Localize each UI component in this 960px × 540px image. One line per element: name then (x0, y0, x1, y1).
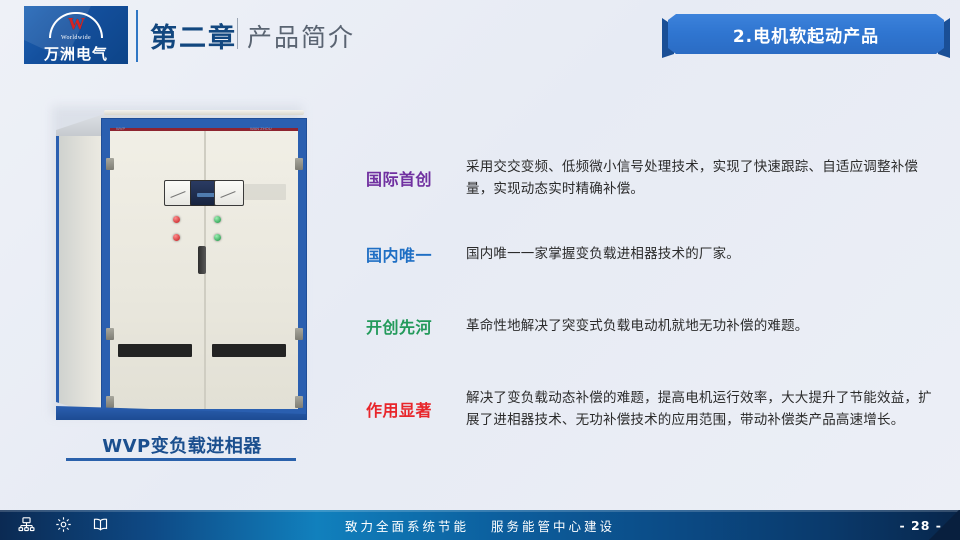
cabinet-hinge (106, 328, 114, 340)
company-logo: W Worldwide 万洲电气 (24, 6, 128, 64)
feature-row: 开创先河 革命性地解决了突变式负载电动机就地无功补偿的难题。 (366, 298, 932, 354)
feature-label: 开创先河 (366, 314, 458, 338)
slide-header: W Worldwide 万洲电气 第二章 产品简介 2.电机软起动产品 (0, 0, 960, 76)
feature-text: 采用交交变频、低频微小信号处理技术，实现了快速跟踪、自适应调整补偿量，实现动态实… (458, 156, 932, 200)
cabinet-tag-right: WAN ZHOU (250, 126, 272, 131)
cabinet-nameplate (244, 184, 286, 200)
slide: W Worldwide 万洲电气 第二章 产品简介 2.电机软起动产品 WVP (0, 0, 960, 540)
cabinet-hinge (295, 328, 303, 340)
chapter-separator (237, 18, 238, 49)
chapter-title: 第二章 (150, 16, 237, 55)
feature-text: 解决了变负载动态补偿的难题，提高电机运行效率，大大提升了节能效益，扩展了进相器技… (458, 387, 932, 431)
page-number: - 28 - (900, 510, 942, 540)
section-badge: 2.电机软起动产品 (662, 14, 950, 58)
cabinet-hinge (106, 396, 114, 408)
logo-company-name: 万洲电气 (24, 43, 128, 64)
feature-label: 国内唯一 (366, 242, 458, 266)
analog-meter-right (214, 180, 244, 206)
footer-slogan-left: 致力全面系统节能 (345, 516, 469, 535)
feature-row: 国际首创 采用交交变频、低频微小信号处理技术，实现了快速跟踪、自适应调整补偿量，… (366, 146, 932, 210)
cabinet-tag-left: WVP (116, 126, 125, 131)
indicator-lamp-red-2 (173, 234, 180, 241)
indicator-lamp-red-1 (173, 216, 180, 223)
indicator-lamp-green-2 (214, 234, 221, 241)
badge-body: 2.电机软起动产品 (668, 14, 944, 54)
feature-row: 国内唯一 国内唯一一家掌握变负载进相器技术的厂家。 (366, 226, 932, 282)
logo-subtitle: Worldwide (24, 35, 128, 41)
cabinet-vent-right (212, 344, 286, 357)
cabinet-hinge (295, 158, 303, 170)
product-caption: WVP变负载进相器 (46, 432, 318, 458)
footer-slogan-right: 服务能管中心建设 (491, 516, 615, 535)
cabinet-door-handle (198, 246, 206, 274)
feature-row: 作用显著 解决了变负载动态补偿的难题，提高电机运行效率，大大提升了节能效益，扩展… (366, 370, 932, 448)
cabinet-hinge (295, 396, 303, 408)
feature-label: 国际首创 (366, 166, 458, 190)
cabinet-side-panel (56, 118, 107, 418)
chapter-subtitle: 产品简介 (247, 18, 355, 54)
header-divider (136, 10, 138, 62)
feature-label: 作用显著 (366, 397, 458, 421)
badge-label: 2.电机软起动产品 (733, 22, 879, 47)
cabinet-top-lip (104, 110, 304, 115)
feature-text: 革命性地解决了突变式负载电动机就地无功补偿的难题。 (458, 315, 932, 337)
logo-w-letter: W (49, 14, 103, 34)
product-caption-underline (66, 458, 296, 461)
logo-w-icon: W (49, 12, 103, 36)
cabinet-vent-left (118, 344, 192, 357)
cabinet-hinge (106, 158, 114, 170)
footer-slogans: 致力全面系统节能 服务能管中心建设 (0, 510, 960, 540)
feature-text: 国内唯一一家掌握变负载进相器技术的厂家。 (458, 243, 932, 265)
product-image: WVP WAN ZHOU (46, 96, 336, 426)
feature-list: 国际首创 采用交交变频、低频微小信号处理技术，实现了快速跟踪、自适应调整补偿量，… (366, 146, 932, 464)
indicator-lamp-green-1 (214, 216, 221, 223)
slide-footer: 致力全面系统节能 服务能管中心建设 - 28 - (0, 510, 960, 540)
